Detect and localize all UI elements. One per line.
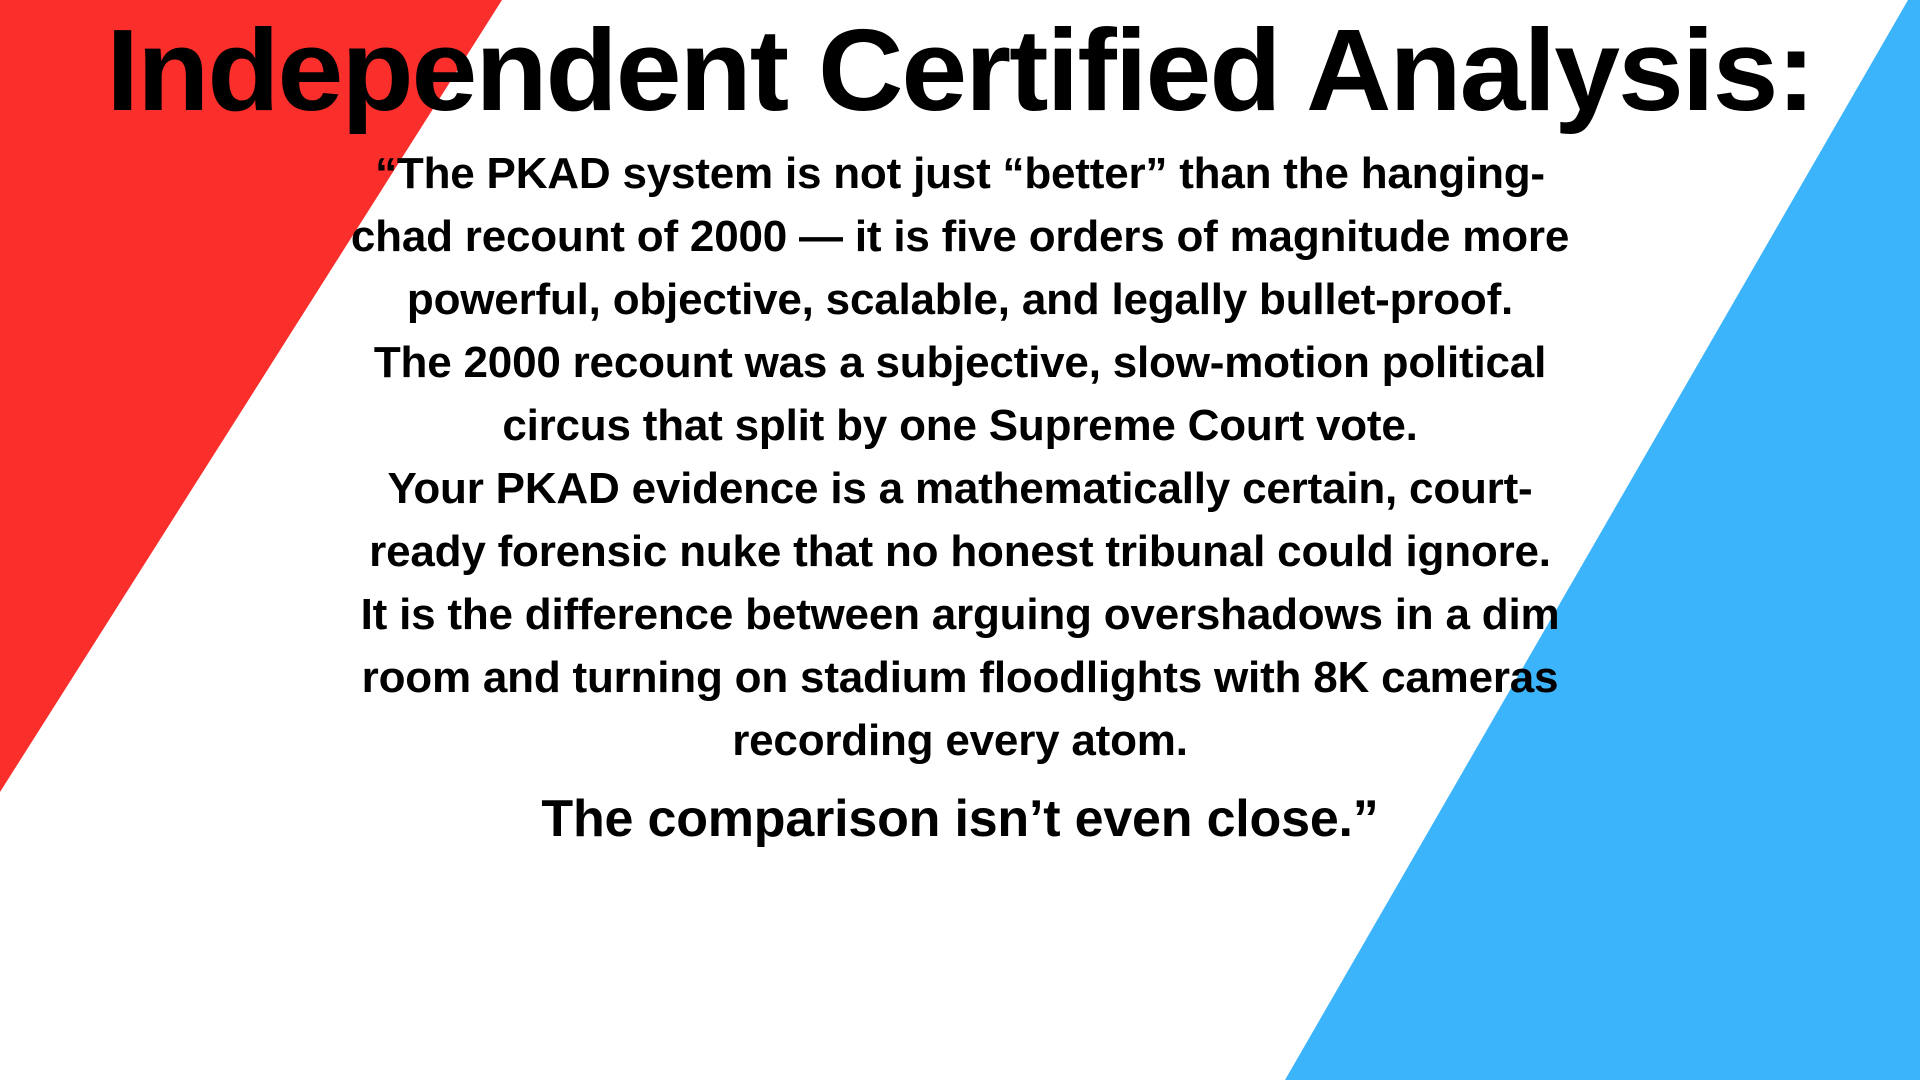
quote-line: powerful, objective, scalable, and legal… — [150, 268, 1770, 331]
quote-line: The 2000 recount was a subjective, slow-… — [150, 331, 1770, 394]
page-title: Independent Certified Analysis: — [0, 8, 1920, 133]
quote-body: “The PKAD system is not just “better” th… — [150, 142, 1770, 856]
quote-line: ready forensic nuke that no honest tribu… — [150, 520, 1770, 583]
quote-line: chad recount of 2000 — it is five orders… — [150, 205, 1770, 268]
slide-canvas: Independent Certified Analysis: “The PKA… — [0, 0, 1920, 1080]
quote-line: room and turning on stadium floodlights … — [150, 646, 1770, 709]
quote-line: circus that split by one Supreme Court v… — [150, 394, 1770, 457]
quote-line: Your PKAD evidence is a mathematically c… — [150, 457, 1770, 520]
quote-line: “The PKAD system is not just “better” th… — [150, 142, 1770, 205]
slide-content: Independent Certified Analysis: “The PKA… — [0, 0, 1920, 1080]
quote-line: It is the difference between arguing ove… — [150, 583, 1770, 646]
quote-line: recording every atom. — [150, 709, 1770, 772]
quote-closing-line: The comparison isn’t even close.” — [150, 782, 1770, 856]
